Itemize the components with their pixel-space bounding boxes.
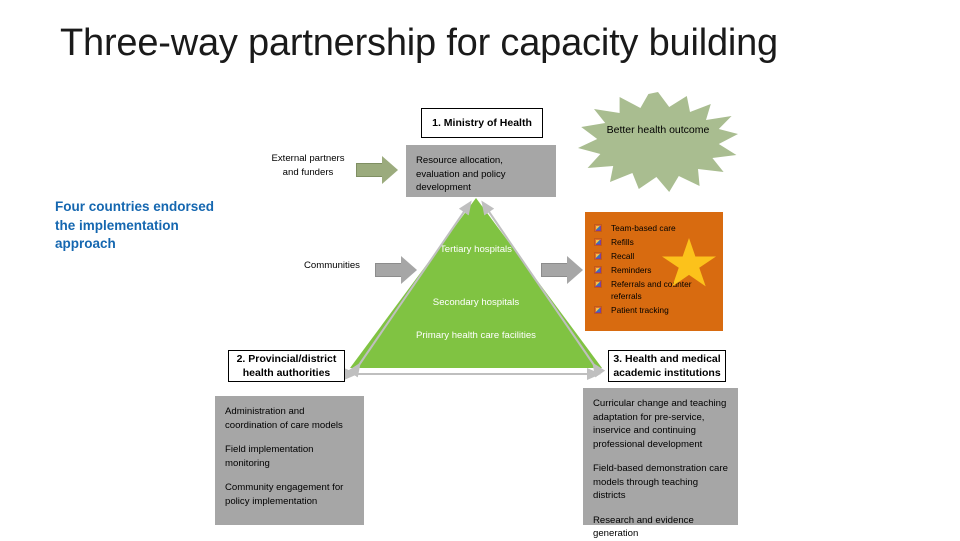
list-item-label: Patient tracking: [611, 305, 669, 315]
list-item-label: Recall: [611, 251, 634, 261]
service-elements-box: Team-based care Refills Recall Reminders…: [585, 212, 723, 331]
communities-arrow-icon: [375, 256, 421, 284]
slide-canvas: Three-way partnership for capacity build…: [0, 0, 960, 540]
provincial-detail-1: Administration and coordination of care …: [225, 405, 354, 432]
list-item-label: Refills: [611, 237, 634, 247]
external-partners-arrow-icon: [356, 156, 402, 184]
list-item: Team-based care: [593, 222, 715, 234]
bullet-icon: [595, 281, 601, 287]
better-health-outcome-burst: Better health outcome: [578, 92, 738, 192]
external-partners-label: External partners and funders: [268, 152, 348, 179]
page-title: Three-way partnership for capacity build…: [60, 22, 910, 65]
academic-detail-2: Field-based demonstration care models th…: [593, 462, 728, 503]
triangle-tier-middle: Secondary hospitals: [346, 296, 606, 310]
list-item: Patient tracking: [593, 304, 715, 316]
academic-detail-3: Research and evidence generation: [593, 514, 728, 541]
ministry-detail-text: Resource allocation, evaluation and poli…: [416, 154, 546, 195]
ministry-detail-box: Resource allocation, evaluation and poli…: [406, 145, 556, 197]
side-note-text: Four countries endorsed the implementati…: [55, 198, 230, 254]
provincial-detail-3: Community engagement for policy implemen…: [225, 481, 354, 508]
ministry-of-health-label: 1. Ministry of Health: [432, 116, 532, 130]
communities-label: Communities: [293, 259, 371, 273]
list-item-label: Reminders: [611, 265, 652, 275]
provincial-authorities-box[interactable]: 2. Provincial/district health authoritie…: [228, 350, 345, 382]
list-item-label: Referrals and counter referrals: [611, 279, 692, 301]
better-health-outcome-label: Better health outcome: [578, 123, 738, 138]
provincial-authorities-label: 2. Provincial/district health authoritie…: [233, 352, 340, 380]
provincial-detail-box: Administration and coordination of care …: [215, 396, 364, 525]
ministry-of-health-box[interactable]: 1. Ministry of Health: [421, 108, 543, 138]
academic-detail-1: Curricular change and teaching adaptatio…: [593, 397, 728, 451]
services-arrow-icon: [541, 256, 587, 284]
academic-institutions-box[interactable]: 3. Health and medical academic instituti…: [608, 350, 726, 382]
academic-detail-box: Curricular change and teaching adaptatio…: [583, 388, 738, 525]
list-item-label: Team-based care: [611, 223, 676, 233]
list-item: Referrals and counter referrals: [593, 278, 715, 303]
triangle-tier-top: Tertiary hospitals: [346, 243, 606, 257]
triangle-tier-bottom: Primary health care facilities: [346, 329, 606, 343]
list-item: Refills: [593, 236, 715, 248]
provincial-detail-2: Field implementation monitoring: [225, 443, 354, 470]
academic-institutions-label: 3. Health and medical academic instituti…: [613, 352, 721, 380]
bullet-icon: [595, 225, 601, 231]
bullet-icon: [595, 267, 601, 273]
